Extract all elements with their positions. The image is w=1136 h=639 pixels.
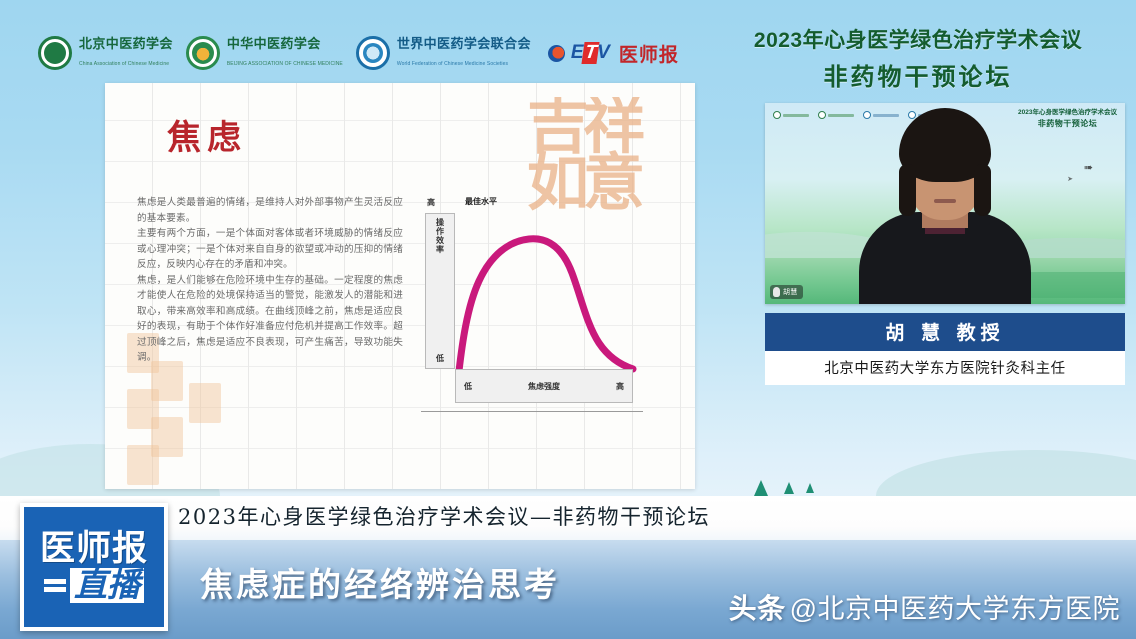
channel-watermark: 头条 @北京中医药大学东方医院 bbox=[729, 587, 1120, 627]
logo-label-cn: 世界中医药学会联合会 bbox=[397, 36, 531, 51]
background-tree-1 bbox=[754, 480, 768, 496]
broadcast-screen: 北京中医药学会 China Association of Chinese Med… bbox=[0, 0, 1136, 639]
lecture-title: 焦虑症的经络辨治思考 bbox=[200, 558, 560, 606]
logo-china-tcm: 中华中医药学会 BEIJING ASSOCIATION OF CHINESE M… bbox=[186, 36, 343, 70]
green-circle-logo-icon bbox=[38, 36, 72, 70]
background-tree-3 bbox=[806, 483, 814, 493]
seal-watermark bbox=[189, 383, 221, 423]
yishibao-wordmark: 医师报 bbox=[619, 40, 679, 67]
video-mini-conference-title: 2023年心身医学绿色治疗学术会议 非药物干预论坛 bbox=[1018, 108, 1117, 130]
video-name-tag: 胡慧 bbox=[770, 285, 803, 299]
slide-body-text: 焦虑是人类最普遍的情绪，是维持人对外部事物产生灵活反应的基本要素。 主要有两个方… bbox=[137, 195, 403, 366]
logo-label-en: China Association of Chinese Medicine bbox=[79, 61, 169, 67]
speaker-name-plate: 胡 慧 教授 北京中医药大学东方医院针灸科主任 bbox=[765, 313, 1125, 385]
video-mini-logo bbox=[863, 111, 899, 119]
seal-watermark bbox=[127, 445, 159, 485]
speaker-video-feed[interactable]: 2023年心身医学绿色治疗学术会议 非药物干预论坛 ➠ ➤ 胡慧 bbox=[765, 103, 1125, 304]
x-axis-low-label: 低 bbox=[464, 381, 472, 392]
background-tree-2 bbox=[784, 482, 794, 494]
video-mini-title-line1: 2023年心身医学绿色治疗学术会议 bbox=[1018, 108, 1117, 118]
banner-conference-line: 2023年心身医学绿色治疗学术会议—非药物干预论坛 bbox=[178, 501, 710, 531]
badge-line2: 直播 bbox=[70, 568, 144, 603]
logo-label-en: BEIJING ASSOCIATION OF CHINESE MEDICINE bbox=[227, 61, 343, 67]
etv-dot-icon bbox=[548, 45, 565, 62]
logo-label-en: World Federation of Chinese Medicine Soc… bbox=[397, 61, 508, 67]
video-mini-logo bbox=[773, 111, 809, 119]
badge-equal-bars-icon bbox=[44, 579, 66, 592]
video-name-tag-label: 胡慧 bbox=[783, 287, 798, 297]
logo-etv: ETV 医师报 bbox=[548, 40, 679, 67]
speaker-hair bbox=[899, 108, 991, 182]
bottom-banner: 2023年心身医学绿色治疗学术会议—非药物干预论坛 焦虑症的经络辨治思考 医师报… bbox=[0, 496, 1136, 639]
badge-line1: 医师报 bbox=[40, 531, 148, 566]
slide-paragraph: 焦虑是人类最普遍的情绪，是维持人对外部事物产生灵活反应的基本要素。 bbox=[137, 195, 403, 226]
bird-icon: ➤ bbox=[1067, 175, 1073, 183]
yishibao-live-badge: 医师报 直播 bbox=[20, 503, 168, 631]
speaker-name: 胡 慧 教授 bbox=[765, 313, 1125, 351]
slide-paragraph: 焦虑，是人们能够在危险环境中生存的基础。一定程度的焦虑才能使人在危险的处境保持适… bbox=[137, 273, 403, 366]
etv-wordmark: ETV bbox=[571, 42, 609, 64]
seal-watermark bbox=[151, 361, 183, 401]
logo-label-cn: 北京中医药学会 bbox=[79, 36, 173, 51]
slide-paragraph: 主要有两个方面，一是个体面对客体或者环境威胁的情绪反应或心理冲突；一是个体对来自… bbox=[137, 226, 403, 273]
x-axis-title: 焦虑强度 bbox=[528, 381, 560, 392]
conference-title-line1: 2023年心身医学绿色治疗学术会议 bbox=[722, 24, 1114, 54]
slide-title: 焦虑 bbox=[167, 110, 247, 159]
speaker-affiliation: 北京中医药大学东方医院针灸科主任 bbox=[765, 351, 1125, 385]
watermark-handle: @北京中医药大学东方医院 bbox=[790, 587, 1120, 626]
presentation-slide: 焦虑 吉祥如意 焦虑是人类最普遍的情绪，是维持人对外部事物产生灵活反应的基本要素… bbox=[105, 83, 695, 489]
conference-title: 2023年心身医学绿色治疗学术会议 非药物干预论坛 bbox=[722, 24, 1114, 92]
video-mini-title-line2: 非药物干预论坛 bbox=[1018, 118, 1117, 130]
bird-icon: ➠ bbox=[1084, 161, 1093, 174]
green-torch-logo-icon bbox=[186, 36, 220, 70]
logo-world-federation: 世界中医药学会联合会 World Federation of Chinese M… bbox=[356, 36, 531, 70]
logo-beijing-tcm: 北京中医药学会 China Association of Chinese Med… bbox=[38, 36, 173, 70]
sponsor-logo-bar: 北京中医药学会 China Association of Chinese Med… bbox=[0, 26, 720, 80]
blue-globe-logo-icon bbox=[356, 36, 390, 70]
x-axis-box: 低 焦虑强度 高 bbox=[455, 369, 633, 403]
background-hill-right bbox=[876, 450, 1136, 496]
logo-label-cn: 中华中医药学会 bbox=[227, 36, 321, 51]
microphone-icon bbox=[773, 287, 780, 297]
chart-baseline bbox=[421, 411, 643, 412]
watermark-prefix: 头条 bbox=[729, 587, 786, 627]
conference-title-line2: 非药物干预论坛 bbox=[722, 57, 1114, 92]
badge-line2-row: 直播 bbox=[44, 568, 144, 603]
anxiety-performance-chart: 高 最佳水平 操作效率 低 低 焦虑强度 高 bbox=[417, 195, 647, 407]
video-mini-logo bbox=[818, 111, 854, 119]
x-axis-high-label: 高 bbox=[616, 381, 624, 392]
speaker-mouth bbox=[934, 199, 956, 203]
